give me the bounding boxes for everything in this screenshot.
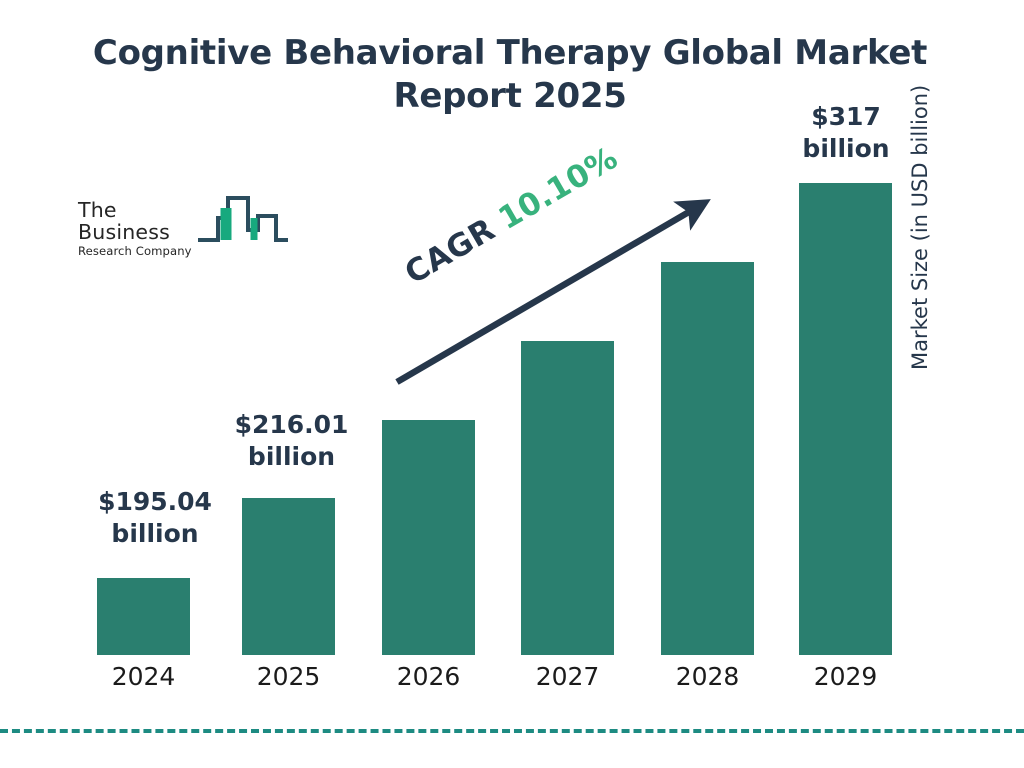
chart-page: Cognitive Behavioral Therapy Global Mark… [0, 0, 1024, 768]
x-label-2026: 2026 [382, 662, 475, 691]
bar-2024 [97, 578, 190, 655]
x-label-2029: 2029 [799, 662, 892, 691]
x-label-2025: 2025 [242, 662, 335, 691]
bar-value-2024: $195.04 billion [80, 486, 230, 550]
bar-2028 [661, 262, 754, 655]
bar-2026 [382, 420, 475, 655]
cagr-value: 10.10% [493, 140, 624, 237]
x-label-2024: 2024 [97, 662, 190, 691]
y-axis-title: Market Size (in USD billion) [908, 40, 932, 370]
bar-2027 [521, 341, 614, 655]
cagr-word: CAGR [399, 212, 501, 292]
x-label-2027: 2027 [521, 662, 614, 691]
bar-chart-plot: $195.04 billion $216.01 billion $317 bil… [0, 0, 1024, 768]
bar-2029 [799, 183, 892, 655]
x-label-2028: 2028 [661, 662, 754, 691]
bar-value-2029: $317 billion [770, 101, 922, 165]
bottom-divider [0, 729, 1024, 733]
bar-2025 [242, 498, 335, 655]
bar-value-2025: $216.01 billion [214, 409, 369, 473]
cagr-annotation: CAGR 10.10% [399, 140, 624, 291]
